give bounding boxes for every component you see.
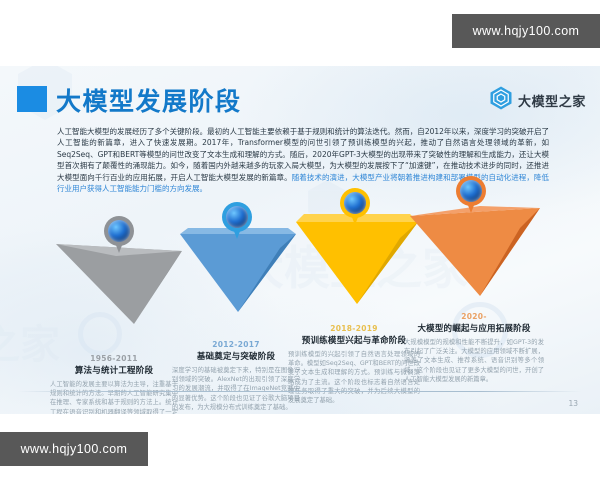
brand-logo: 大模型之家 [490,86,586,115]
stage-3-description: 预训练模型的兴起引领了自然语言处理领域的革命。模型如Seq2Seq、GPT和BE… [288,350,420,405]
footer-divider [18,391,582,392]
page-number: 13 [568,399,578,408]
stage-4-pyramid [408,202,544,298]
stage-2-pyramid [180,228,300,314]
stage-2-years: 2012-2017 [172,340,300,349]
hexagon-logo-icon [490,86,512,115]
stage-1-years: 1956-2011 [50,354,178,363]
stage-1-pyramid [56,242,186,326]
top-watermark-text: www.hqjy100.com [473,24,580,38]
top-watermark-banner: www.hqjy100.com [452,14,600,48]
page-title: 大模型发展阶段 [56,82,242,118]
brand-name: 大模型之家 [518,91,586,110]
stage-1-caption: 1956-2011 算法与统计工程阶段 人工智能的发展主要以算法为主导，注重基于… [50,354,178,414]
bottom-watermark-banner: www.hqjy100.com [0,432,148,466]
slide-canvas: 大模型之家 之家 大模型发展阶段 大模型之家 人工智能大模型的发展经历了多个关键… [0,66,600,414]
stage-1-name: 算法与统计工程阶段 [50,364,178,376]
stage-3-name: 预训练模型兴起与革命阶段 [288,334,420,346]
stage-2-caption: 2012-2017 基础奠定与突破阶段 深度学习的基础被奠定下来，特别是在图像识… [172,340,300,412]
title-accent-block [17,86,47,112]
stage-2-description: 深度学习的基础被奠定下来，特别是在图像识别领域的突破。AlexNet的出现引领了… [172,366,300,412]
globe-pin-icon [340,188,370,226]
stage-4-name: 大模型的崛起与应用拓展阶段 [404,322,544,334]
bottom-watermark-text: www.hqjy100.com [21,442,128,456]
stage-4-description: 大规模模型的规模和性能不断提升，如GPT-3的发布引起了广泛关注。大模型的应用领… [404,338,544,384]
stage-3-years: 2018-2019 [288,324,420,333]
globe-pin-icon [104,216,134,254]
stage-4-years: 2020- [404,312,544,321]
globe-pin-icon [456,176,486,214]
stage-3-caption: 2018-2019 预训练模型兴起与革命阶段 预训练模型的兴起引领了自然语言处理… [288,324,420,405]
stage-2-name: 基础奠定与突破阶段 [172,350,300,362]
stage-3-pyramid [296,214,422,306]
stage-1-description: 人工智能的发展主要以算法为主导，注重基于规则和统计的方法。早期的人工智能研究集中… [50,380,178,414]
stage-4-caption: 2020- 大模型的崛起与应用拓展阶段 大规模模型的规模和性能不断提升，如GPT… [404,312,544,384]
globe-pin-icon [222,202,252,240]
